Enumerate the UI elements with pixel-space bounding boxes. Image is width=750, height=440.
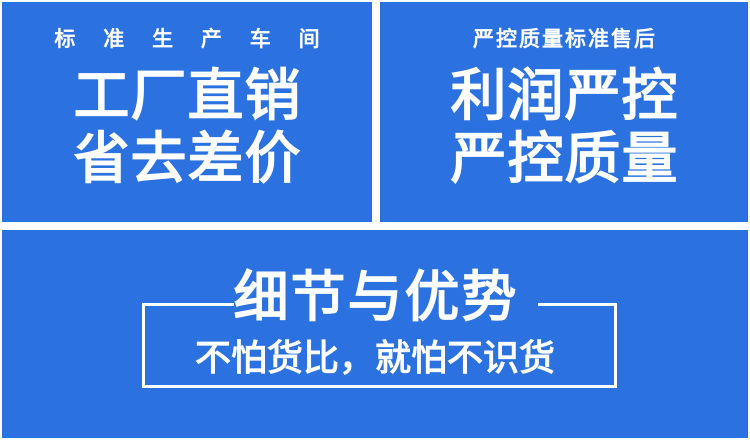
panel-details-advantages: 细节与优势 不怕货比，就怕不识货	[2, 230, 748, 438]
bottom-subtitle-slogan: 不怕货比，就怕不识货	[2, 340, 748, 376]
headline-profit-control: 利润严控	[450, 67, 679, 124]
panel-details-advantages-content: 细节与优势 不怕货比，就怕不识货	[2, 230, 748, 438]
promo-banner: 标 准 生 产 车 间 工厂直销 省去差价 严控质量标准售后 利润严控 严控质量…	[0, 0, 750, 440]
headline-factory-direct: 工厂直销	[73, 67, 302, 124]
headline-quality-control: 严控质量	[450, 130, 679, 187]
headline-save-markup: 省去差价	[73, 130, 302, 187]
eyebrow-standard-workshop: 标 准 生 产 车 间	[43, 29, 330, 50]
bottom-title-details-advantages: 细节与优势	[2, 270, 748, 325]
panel-quality-control-content: 严控质量标准售后 利润严控 严控质量	[380, 2, 748, 222]
panel-quality-control: 严控质量标准售后 利润严控 严控质量	[380, 2, 748, 222]
panel-factory-direct-content: 标 准 生 产 车 间 工厂直销 省去差价	[2, 2, 372, 222]
eyebrow-quality-aftersales: 严控质量标准售后	[471, 29, 657, 50]
panel-factory-direct: 标 准 生 产 车 间 工厂直销 省去差价	[2, 2, 372, 222]
